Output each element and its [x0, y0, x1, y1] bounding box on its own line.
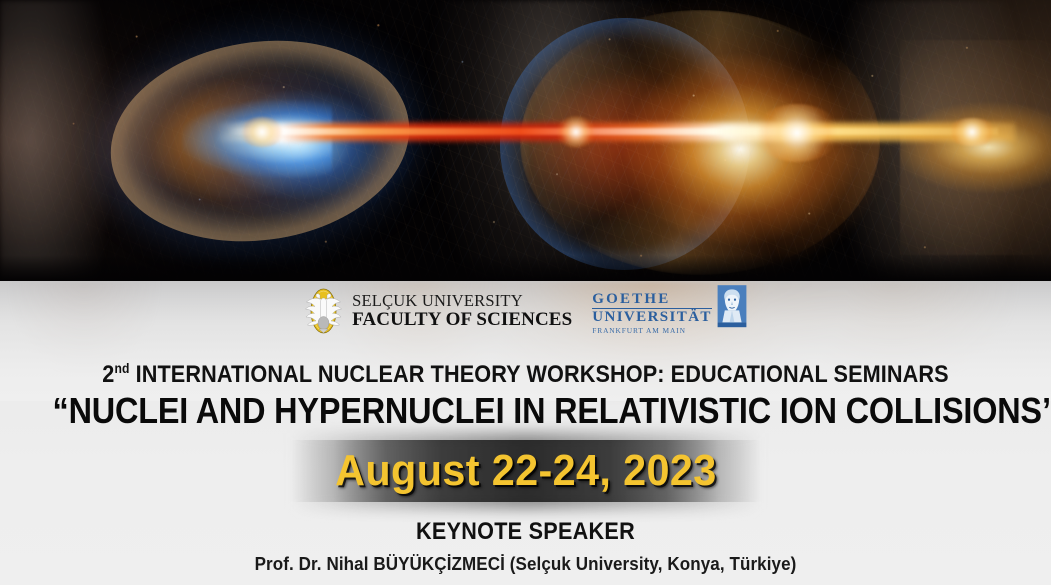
date-text: August 22-24, 2023: [335, 446, 716, 496]
logo-row: SELÇUK UNIVERSITY FACULTY OF SCIENCES GO…: [0, 287, 1051, 335]
conference-poster: SELÇUK UNIVERSITY FACULTY OF SCIENCES GO…: [0, 0, 1051, 585]
beam-flare-mid: [556, 116, 596, 148]
beam-flare-right: [754, 104, 840, 162]
hero-bottom-fade: [0, 255, 1051, 281]
goethe-portrait-emblem: [715, 284, 749, 332]
keynote-speaker-label: KEYNOTE SPEAKER: [53, 518, 999, 546]
workshop-main-title: “NUCLEI AND HYPERNUCLEI IN RELATIVISTIC …: [53, 390, 999, 432]
goethe-logo-text: GOETHE UNIVERSITÄT FRANKFURT AM MAIN: [592, 287, 712, 335]
beam-flare-left: [239, 117, 285, 147]
date-banner: August 22-24, 2023: [291, 440, 761, 502]
hero-particle-collision-image: [0, 0, 1051, 281]
selcuk-university-eagle-emblem: [302, 287, 345, 335]
selcuk-line-1: SELÇUK UNIVERSITY: [352, 293, 572, 310]
subtitle-rest: INTERNATIONAL NUCLEAR THEORY WORKSHOP: E…: [129, 361, 948, 388]
goethe-line-3: FRANKFURT AM MAIN: [592, 327, 712, 335]
selcuk-line-2: FACULTY OF SCIENCES: [352, 310, 572, 329]
selcuk-university-logo: SELÇUK UNIVERSITY FACULTY OF SCIENCES: [302, 287, 572, 335]
subtitle-ordinal-suffix: nd: [114, 361, 129, 376]
subtitle-ordinal-number: 2: [102, 361, 114, 388]
keynote-speaker-name: Prof. Dr. Nihal BÜYÜKÇİZMECİ (Selçuk Uni…: [42, 553, 1009, 575]
goethe-line-1: GOETHE: [592, 292, 712, 307]
collision-beam-core: [228, 128, 998, 135]
beam-flare-far: [946, 118, 998, 146]
date-banner-wrap: August 22-24, 2023: [0, 440, 1051, 502]
goethe-university-logo: GOETHE UNIVERSITÄT FRANKFURT AM MAIN: [592, 287, 749, 335]
selcuk-logo-text: SELÇUK UNIVERSITY FACULTY OF SCIENCES: [352, 293, 572, 330]
workshop-subtitle: 2nd INTERNATIONAL NUCLEAR THEORY WORKSHO…: [60, 361, 990, 389]
goethe-line-2: UNIVERSITÄT: [592, 308, 712, 325]
info-panel: SELÇUK UNIVERSITY FACULTY OF SCIENCES GO…: [0, 281, 1051, 585]
